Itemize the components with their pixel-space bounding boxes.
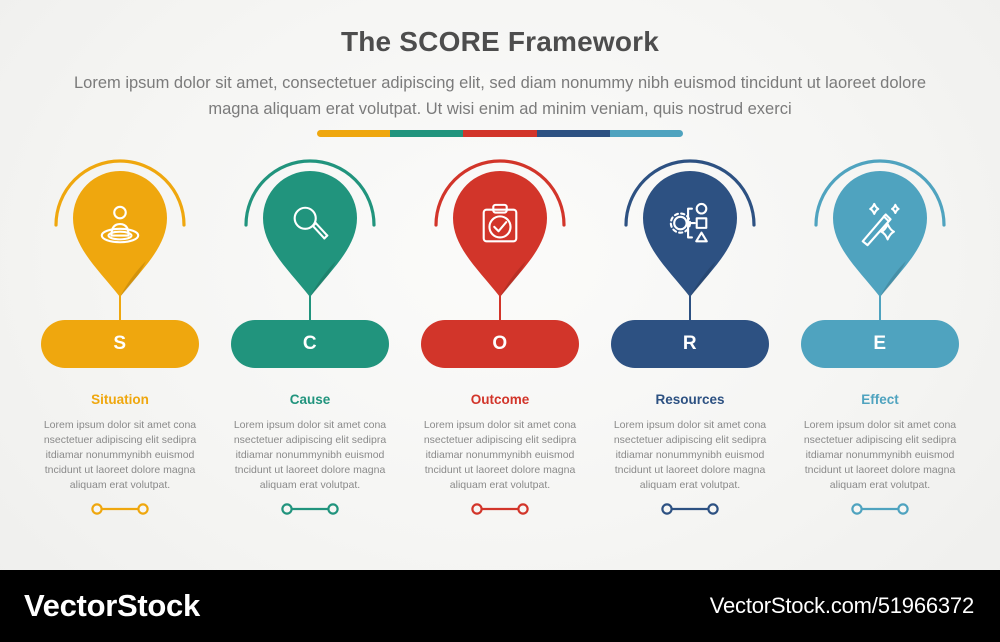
pill-letter: E — [873, 333, 886, 355]
vectorstock-url: VectorStock.com/51966372 — [710, 593, 974, 619]
score-columns: SSituationLorem ipsum dolor sit amet con… — [0, 0, 1000, 560]
column-heading: Resources — [595, 392, 785, 407]
column-heading: Situation — [25, 392, 215, 407]
magnifying-glass-icon — [287, 201, 333, 249]
column-description: Lorem ipsum dolor sit amet cona nsectetu… — [793, 418, 967, 493]
letter-pill-e[interactable]: E — [801, 320, 959, 368]
score-column-cause[interactable]: CCauseLorem ipsum dolor sit amet cona ns… — [215, 0, 405, 560]
dumbbell-wrap — [849, 502, 911, 521]
footer-bar: VectorStock VectorStock.com/51966372 — [0, 570, 1000, 642]
dumbbell-connector — [89, 502, 151, 516]
score-column-effect[interactable]: EEffectLorem ipsum dolor sit amet cona n… — [785, 0, 975, 560]
column-heading: Effect — [785, 392, 975, 407]
dumbbell-wrap — [89, 502, 151, 521]
column-description: Lorem ipsum dolor sit amet cona nsectetu… — [413, 418, 587, 493]
letter-pill-s[interactable]: S — [41, 320, 199, 368]
clipboard-check-icon — [477, 201, 523, 249]
dumbbell-connector — [849, 502, 911, 516]
pill-letter: C — [303, 333, 317, 355]
letter-pill-c[interactable]: C — [231, 320, 389, 368]
vectorstock-logo: VectorStock — [24, 588, 200, 624]
column-description: Lorem ipsum dolor sit amet cona nsectetu… — [223, 418, 397, 493]
column-heading: Cause — [215, 392, 405, 407]
dumbbell-connector — [469, 502, 531, 516]
magic-wand-icon — [857, 201, 903, 249]
column-description: Lorem ipsum dolor sit amet cona nsectetu… — [33, 418, 207, 493]
letter-pill-o[interactable]: O — [421, 320, 579, 368]
dumbbell-connector — [659, 502, 721, 516]
pill-letter: R — [683, 333, 697, 355]
letter-pill-r[interactable]: R — [611, 320, 769, 368]
infographic-canvas: The SCORE Framework Lorem ipsum dolor si… — [0, 0, 1000, 642]
score-column-outcome[interactable]: OOutcomeLorem ipsum dolor sit amet cona … — [405, 0, 595, 560]
score-column-resources[interactable]: RResourcesLorem ipsum dolor sit amet con… — [595, 0, 785, 560]
pill-letter: S — [113, 333, 126, 355]
person-on-platform-icon — [97, 201, 143, 249]
gear-network-icon — [667, 201, 713, 249]
pill-letter: O — [492, 333, 507, 355]
column-description: Lorem ipsum dolor sit amet cona nsectetu… — [603, 418, 777, 493]
dumbbell-wrap — [279, 502, 341, 521]
dumbbell-wrap — [469, 502, 531, 521]
column-heading: Outcome — [405, 392, 595, 407]
score-column-situation[interactable]: SSituationLorem ipsum dolor sit amet con… — [25, 0, 215, 560]
dumbbell-wrap — [659, 502, 721, 521]
dumbbell-connector — [279, 502, 341, 516]
